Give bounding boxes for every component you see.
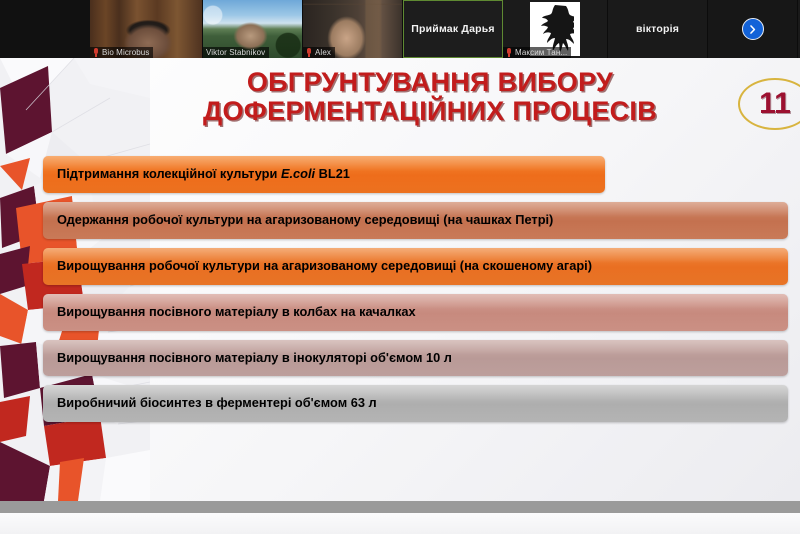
slide-number-badge: 11 (738, 78, 800, 130)
participant-tile-4[interactable]: Максим Тан... (503, 0, 608, 58)
slide-bottom-divider (0, 501, 800, 513)
slide-title-line-1: ОБГРУНТУВАННЯ ВИБОРУ (130, 68, 730, 97)
process-step-text-3: Вирощування робочої культури на агаризов… (57, 258, 592, 273)
participant-name-0: Bio Microbus (102, 48, 149, 57)
microphone-muted-icon (506, 48, 512, 57)
page-bottom-area (0, 513, 800, 534)
process-step-text-1: Підтримання колекційної культури (57, 166, 281, 181)
process-step-bar-3: Вирощування робочої культури на агаризов… (43, 248, 788, 285)
filmstrip-next-page-area (708, 0, 798, 58)
process-step-bar-5: Вирощування посівного матеріалу в інокул… (43, 340, 788, 377)
process-step-bar-2: Одержання робочої культури на агаризован… (43, 202, 788, 239)
participant-name-1: Viktor Stabnikov (206, 48, 265, 57)
process-steps-list: Підтримання колекційної культури E.coli … (43, 156, 788, 431)
participant-name-badge-0: Bio Microbus (90, 47, 153, 58)
participant-name-2: Alex (315, 48, 331, 57)
participant-name-badge-1: Viktor Stabnikov (203, 47, 269, 58)
process-step-text-5: Вирощування посівного матеріалу в інокул… (57, 350, 452, 365)
participant-name-4: Максим Тан... (515, 48, 567, 57)
process-step-bar-6: Виробничий біосинтез в ферментері об'ємо… (43, 385, 788, 422)
participant-tile-0[interactable]: Bio Microbus (90, 0, 203, 58)
screen-root: Bio Microbus Viktor Stabnikov Alex Прийм… (0, 0, 800, 534)
process-step-text-4: Вирощування посівного матеріалу в колбах… (57, 304, 416, 319)
process-step-text-6: Виробничий біосинтез в ферментері об'ємо… (57, 395, 377, 410)
participant-name-5: вікторія (608, 0, 707, 58)
filmstrip-left-padding (0, 0, 90, 58)
process-step-bar-1: Підтримання колекційної культури E.coli … (43, 156, 605, 193)
chevron-right-icon[interactable] (742, 18, 764, 40)
process-step-text-2: Одержання робочої культури на агаризован… (57, 212, 553, 227)
microphone-muted-icon (93, 48, 99, 57)
participant-tile-2[interactable]: Alex (303, 0, 403, 58)
participant-name-badge-2: Alex (303, 47, 335, 58)
process-step-text-1-suffix: BL21 (315, 166, 350, 181)
microphone-muted-icon (306, 48, 312, 57)
participant-name-badge-4: Максим Тан... (503, 47, 571, 58)
participant-tile-5[interactable]: вікторія (608, 0, 708, 58)
slide-number-value: 11 (759, 87, 791, 121)
video-conference-filmstrip: Bio Microbus Viktor Stabnikov Alex Прийм… (0, 0, 800, 58)
process-step-italic-1: E.coli (281, 166, 315, 181)
slide-title: ОБГРУНТУВАННЯ ВИБОРУ ДОФЕРМЕНТАЦІЙНИХ ПР… (130, 68, 730, 126)
participant-name-3: Приймак Дарья (404, 1, 502, 57)
slide-title-line-2: ДОФЕРМЕНТАЦІЙНИХ ПРОЦЕСІВ (130, 97, 730, 126)
process-step-bar-4: Вирощування посівного матеріалу в колбах… (43, 294, 788, 331)
presentation-slide: ОБГРУНТУВАННЯ ВИБОРУ ДОФЕРМЕНТАЦІЙНИХ ПР… (0, 58, 800, 501)
participant-tile-3-active-speaker[interactable]: Приймак Дарья (403, 0, 503, 58)
participant-tile-1[interactable]: Viktor Stabnikov (203, 0, 303, 58)
